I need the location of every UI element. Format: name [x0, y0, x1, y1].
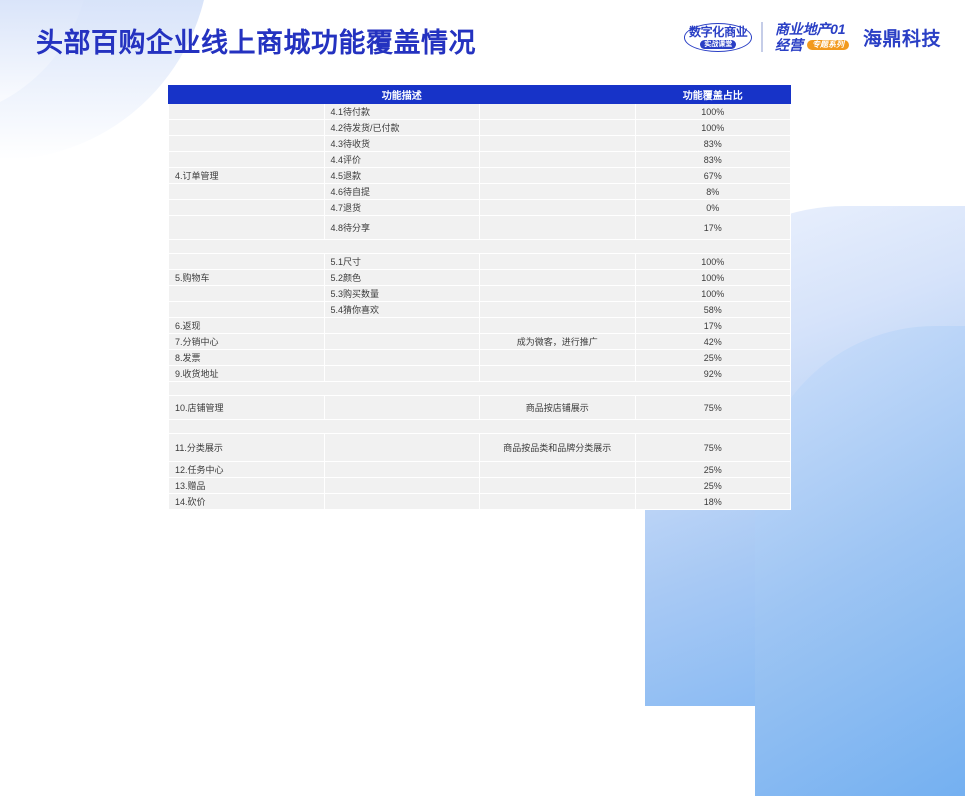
cell-coverage: 0% — [635, 200, 791, 216]
cell-note: 成为微客，进行推广 — [480, 334, 636, 350]
table-row: 4.4评价83% — [169, 152, 791, 168]
brand-series-line2: 经营 — [775, 38, 803, 52]
cell-coverage: 17% — [635, 216, 791, 240]
table-body: 4.1待付款100%4.2待发货/已付款100%4.3待收货83%4.4评价83… — [169, 104, 791, 510]
table-row: 10.店铺管理商品按店铺展示75% — [169, 396, 791, 420]
cell-module: 7.分销中心 — [169, 334, 325, 350]
table-row: 13.赠品25% — [169, 478, 791, 494]
cell-coverage: 100% — [635, 270, 791, 286]
table-row: 11.分类展示商品按品类和品牌分类展示75% — [169, 434, 791, 462]
page-header: 头部百购企业线上商城功能覆盖情况 数字化商业 实战课堂 商业地产01 经营 专题… — [0, 0, 965, 75]
table-row: 5.3购买数量100% — [169, 286, 791, 302]
cell-note — [480, 152, 636, 168]
cell-coverage: 75% — [635, 434, 791, 462]
cell-note — [480, 302, 636, 318]
cell-note — [480, 286, 636, 302]
brand-series-line2-row: 经营 专题系列 — [775, 38, 849, 52]
cell-feature — [324, 366, 480, 382]
cell-module: 5.购物车 — [169, 270, 325, 286]
cell-feature — [324, 434, 480, 462]
table-spacer-row — [169, 382, 791, 396]
cell-feature: 4.2待发货/已付款 — [324, 120, 480, 136]
cell-note — [480, 318, 636, 334]
cell-coverage: 25% — [635, 478, 791, 494]
table-head: 功能描述 功能覆盖占比 — [169, 86, 791, 104]
table-row: 6.返现17% — [169, 318, 791, 334]
table-row: 4.6待自提8% — [169, 184, 791, 200]
cell-coverage: 100% — [635, 104, 791, 120]
cell-feature: 4.5退款 — [324, 168, 480, 184]
table-row: 14.砍价18% — [169, 494, 791, 510]
coverage-table-container: 功能描述 功能覆盖占比 4.1待付款100%4.2待发货/已付款100%4.3待… — [168, 85, 791, 510]
cell-feature: 4.8待分享 — [324, 216, 480, 240]
table-spacer-cell — [169, 420, 791, 434]
cell-module: 6.返现 — [169, 318, 325, 334]
table-row: 4.7退货0% — [169, 200, 791, 216]
cell-coverage: 100% — [635, 286, 791, 302]
cell-note: 商品按品类和品牌分类展示 — [480, 434, 636, 462]
cell-module: 9.收货地址 — [169, 366, 325, 382]
column-header-description: 功能描述 — [169, 86, 636, 104]
table-spacer-cell — [169, 240, 791, 254]
cell-coverage: 8% — [635, 184, 791, 200]
brand-divider — [761, 22, 763, 52]
cell-feature: 4.6待自提 — [324, 184, 480, 200]
ellipse-outline-icon — [684, 23, 753, 52]
cell-module: 10.店铺管理 — [169, 396, 325, 420]
brand-series-line1: 商业地产01 — [775, 22, 849, 36]
table-spacer-cell — [169, 382, 791, 396]
page-title: 头部百购企业线上商城功能覆盖情况 — [36, 21, 476, 60]
coverage-table: 功能描述 功能覆盖占比 4.1待付款100%4.2待发货/已付款100%4.3待… — [168, 85, 791, 510]
cell-module — [169, 184, 325, 200]
table-row: 9.收货地址92% — [169, 366, 791, 382]
cell-note — [480, 104, 636, 120]
cell-feature — [324, 334, 480, 350]
cell-note — [480, 184, 636, 200]
cell-feature — [324, 462, 480, 478]
table-row: 5.1尺寸100% — [169, 254, 791, 270]
table-row: 4.8待分享17% — [169, 216, 791, 240]
cell-module — [169, 216, 325, 240]
cell-note — [480, 366, 636, 382]
cell-feature — [324, 478, 480, 494]
cell-coverage: 75% — [635, 396, 791, 420]
cell-module — [169, 120, 325, 136]
cell-note — [480, 200, 636, 216]
cell-note — [480, 494, 636, 510]
brand-series-title: 商业地产01 经营 专题系列 — [775, 22, 849, 52]
cell-module: 4.订单管理 — [169, 168, 325, 184]
table-header-row: 功能描述 功能覆盖占比 — [169, 86, 791, 104]
cell-module: 8.发票 — [169, 350, 325, 366]
cell-note — [480, 254, 636, 270]
table-spacer-row — [169, 420, 791, 434]
brand-badge-logo: 数字化商业 实战课堂 — [687, 25, 750, 50]
cell-note — [480, 350, 636, 366]
cell-coverage: 67% — [635, 168, 791, 184]
cell-module — [169, 200, 325, 216]
cell-coverage: 83% — [635, 136, 791, 152]
cell-coverage: 58% — [635, 302, 791, 318]
company-name: 海鼎科技 — [863, 24, 941, 51]
table-row: 8.发票25% — [169, 350, 791, 366]
cell-module — [169, 136, 325, 152]
cell-note — [480, 120, 636, 136]
cell-module: 14.砍价 — [169, 494, 325, 510]
cell-feature: 5.1尺寸 — [324, 254, 480, 270]
cell-note: 商品按店铺展示 — [480, 396, 636, 420]
cell-feature: 5.2颜色 — [324, 270, 480, 286]
cell-coverage: 17% — [635, 318, 791, 334]
cell-coverage: 100% — [635, 254, 791, 270]
table-row: 4.订单管理4.5退款67% — [169, 168, 791, 184]
table-row: 4.1待付款100% — [169, 104, 791, 120]
cell-feature — [324, 318, 480, 334]
cell-coverage: 92% — [635, 366, 791, 382]
table-row: 4.2待发货/已付款100% — [169, 120, 791, 136]
cell-feature — [324, 396, 480, 420]
cell-note — [480, 168, 636, 184]
table-row: 5.购物车5.2颜色100% — [169, 270, 791, 286]
cell-module — [169, 104, 325, 120]
cell-coverage: 25% — [635, 462, 791, 478]
table-row: 5.4猜你喜欢58% — [169, 302, 791, 318]
cell-feature — [324, 494, 480, 510]
brand-series-tag: 专题系列 — [807, 40, 849, 50]
cell-feature: 4.7退货 — [324, 200, 480, 216]
cell-module: 13.赠品 — [169, 478, 325, 494]
cell-coverage: 18% — [635, 494, 791, 510]
cell-note — [480, 270, 636, 286]
table-row: 12.任务中心25% — [169, 462, 791, 478]
cell-module: 11.分类展示 — [169, 434, 325, 462]
cell-feature: 4.3待收货 — [324, 136, 480, 152]
cell-feature: 5.3购买数量 — [324, 286, 480, 302]
cell-feature: 5.4猜你喜欢 — [324, 302, 480, 318]
cell-note — [480, 136, 636, 152]
cell-feature — [324, 350, 480, 366]
cell-coverage: 100% — [635, 120, 791, 136]
brand-lockup: 数字化商业 实战课堂 商业地产01 经营 专题系列 海鼎科技 — [687, 22, 941, 52]
cell-note — [480, 478, 636, 494]
cell-module — [169, 254, 325, 270]
cell-coverage: 42% — [635, 334, 791, 350]
cell-module — [169, 152, 325, 168]
cell-feature: 4.1待付款 — [324, 104, 480, 120]
cell-note — [480, 462, 636, 478]
cell-coverage: 83% — [635, 152, 791, 168]
table-row: 4.3待收货83% — [169, 136, 791, 152]
cell-note — [480, 216, 636, 240]
cell-module — [169, 302, 325, 318]
table-row: 7.分销中心成为微客，进行推广42% — [169, 334, 791, 350]
cell-feature: 4.4评价 — [324, 152, 480, 168]
table-spacer-row — [169, 240, 791, 254]
column-header-ratio: 功能覆盖占比 — [635, 86, 791, 104]
cell-module — [169, 286, 325, 302]
cell-coverage: 25% — [635, 350, 791, 366]
cell-module: 12.任务中心 — [169, 462, 325, 478]
